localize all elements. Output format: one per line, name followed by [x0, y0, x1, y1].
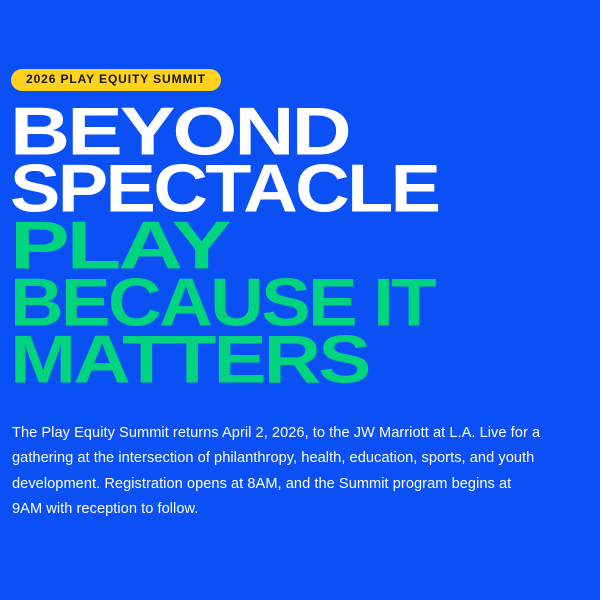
event-description-text: The Play Equity Summit returns April 2, …: [12, 421, 542, 522]
eyebrow-badge-row: 2026 PLAY EQUITY SUMMIT: [11, 69, 221, 91]
headline-block: BEYOND SPECTACLE PLAY BECAUSE IT MATTERS: [10, 103, 595, 388]
event-description: The Play Equity Summit returns April 2, …: [12, 421, 542, 522]
headline-line-matters: MATTERS: [10, 329, 600, 389]
promo-poster: 2026 PLAY EQUITY SUMMIT BEYOND SPECTACLE…: [0, 0, 600, 600]
event-badge: 2026 PLAY EQUITY SUMMIT: [11, 69, 221, 91]
